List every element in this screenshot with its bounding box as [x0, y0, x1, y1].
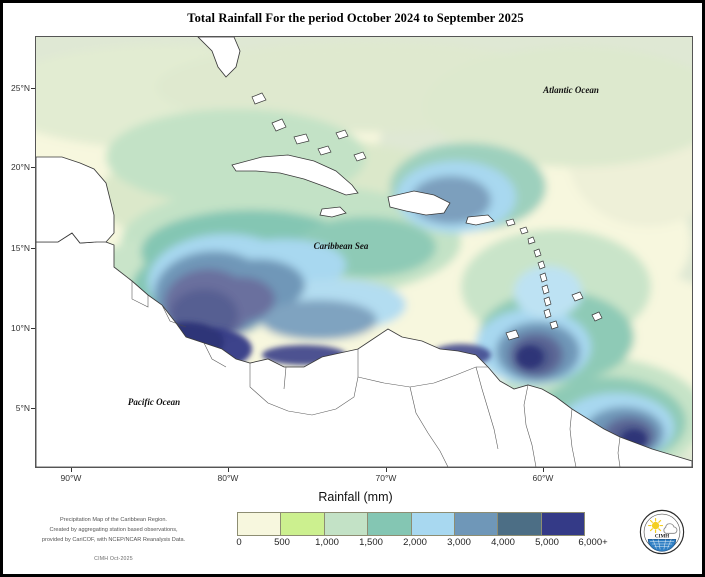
- y-axis-label-15n: 15°N: [11, 243, 30, 253]
- colorbar-swatch-1000-1500: [325, 513, 368, 535]
- y-axis-label-10n: 10°N: [11, 323, 30, 333]
- figure-canvas: Total Rainfall For the period October 20…: [0, 0, 705, 577]
- colorbar-swatch-1500-2000: [368, 513, 411, 535]
- source-stamp: CIMH Oct-2025: [11, 556, 216, 562]
- colorbar-swatches: [237, 512, 585, 536]
- map-label-atlantic: Atlantic Ocean: [543, 85, 599, 95]
- logo-text: CIMH: [655, 534, 669, 540]
- map-label-pacific: Pacific Ocean: [128, 397, 180, 407]
- x-axis-label-80w: 80°W: [218, 473, 239, 483]
- map-label-caribbean: Caribbean Sea: [314, 241, 369, 251]
- colorbar-swatch-500-1000: [281, 513, 324, 535]
- colorbar-swatch-2000-3000: [412, 513, 455, 535]
- page-title: Total Rainfall For the period October 20…: [3, 11, 705, 26]
- colorbar-swatch-3000-4000: [455, 513, 498, 535]
- colorbar-tick-500: 500: [274, 537, 290, 548]
- x-axis-label-70w: 70°W: [376, 473, 397, 483]
- colorbar-tick-3000: 3,000: [447, 537, 471, 548]
- colorbar-swatch-4000-5000: [498, 513, 541, 535]
- caption-line-2: Created by aggregating station based obs…: [11, 526, 216, 536]
- y-axis-label-25n: 25°N: [11, 83, 30, 93]
- cimh-logo: CIMH: [639, 509, 685, 555]
- colorbar-tick-6000plus: 6,000+: [578, 537, 607, 548]
- figure-caption: Precipitation Map of the Caribbean Regio…: [11, 516, 216, 545]
- colorbar: 0 500 1,000 1,500 2,000 3,000 4,000 5,00…: [237, 512, 585, 536]
- colorbar-tick-4000: 4,000: [491, 537, 515, 548]
- caption-line-1: Precipitation Map of the Caribbean Regio…: [11, 516, 216, 526]
- map-axes: Atlantic Ocean Caribbean Sea Pacific Oce…: [35, 36, 693, 468]
- caption-line-3: provided by CariCOF, with NCEP/NCAR Rean…: [11, 536, 216, 546]
- colorbar-tick-1000: 1,000: [315, 537, 339, 548]
- colorbar-tick-1500: 1,500: [359, 537, 383, 548]
- x-axis-label-90w: 90°W: [61, 473, 82, 483]
- y-axis-label-20n: 20°N: [11, 162, 30, 172]
- y-axis-label-5n: 5°N: [16, 403, 30, 413]
- colorbar-swatch-0-500: [238, 513, 281, 535]
- colorbar-tick-0: 0: [236, 537, 241, 548]
- colorbar-tick-5000: 5,000: [535, 537, 559, 548]
- map-plot-area: Atlantic Ocean Caribbean Sea Pacific Oce…: [35, 36, 693, 468]
- sun-icon: [649, 519, 663, 533]
- colorbar-tick-2000: 2,000: [403, 537, 427, 548]
- x-axis-label-60w: 60°W: [533, 473, 554, 483]
- colorbar-swatch-5000-6000plus: [542, 513, 584, 535]
- colorbar-title: Rainfall (mm): [3, 490, 705, 504]
